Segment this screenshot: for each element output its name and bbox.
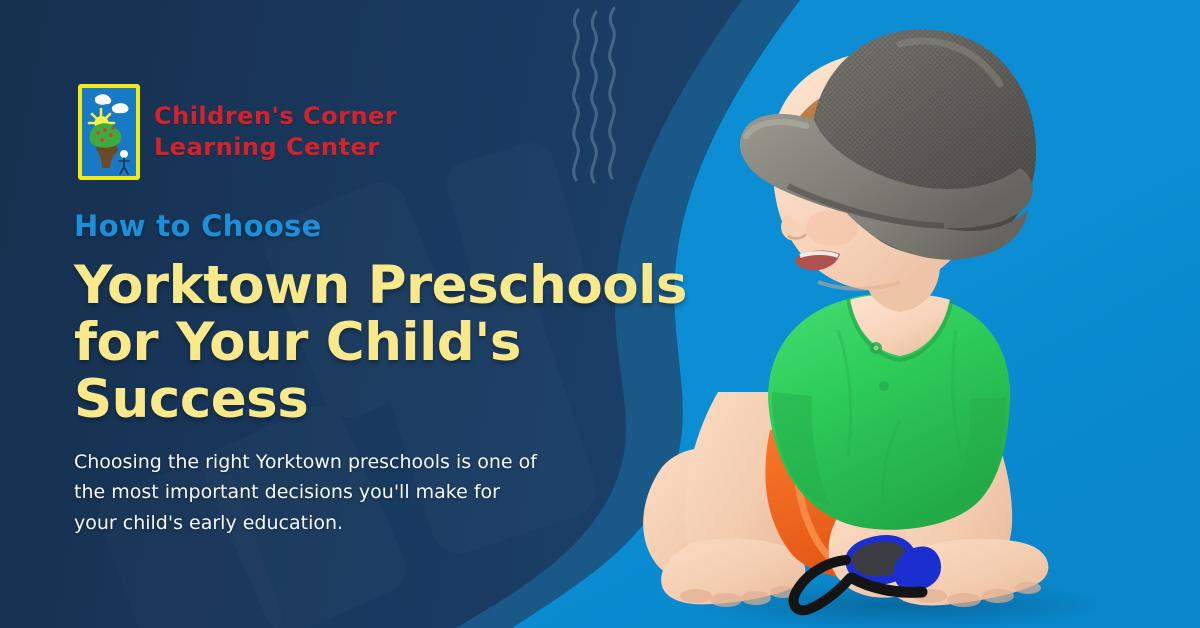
eyebrow-text: How to Choose [74,212,704,241]
logo-illustration-icon [82,88,136,176]
promotional-banner: Children's Corner Learning Center How to… [0,0,1200,628]
logo-mark [78,84,140,180]
copy-block: How to Choose Yorktown Preschools for Yo… [74,212,704,539]
logo-wordmark: Children's Corner Learning Center [154,101,397,162]
subcopy-text: Choosing the right Yorktown preschools i… [74,447,544,539]
logo[interactable]: Children's Corner Learning Center [78,84,397,180]
page-title: Yorktown Preschools for Your Child's Suc… [74,257,704,429]
